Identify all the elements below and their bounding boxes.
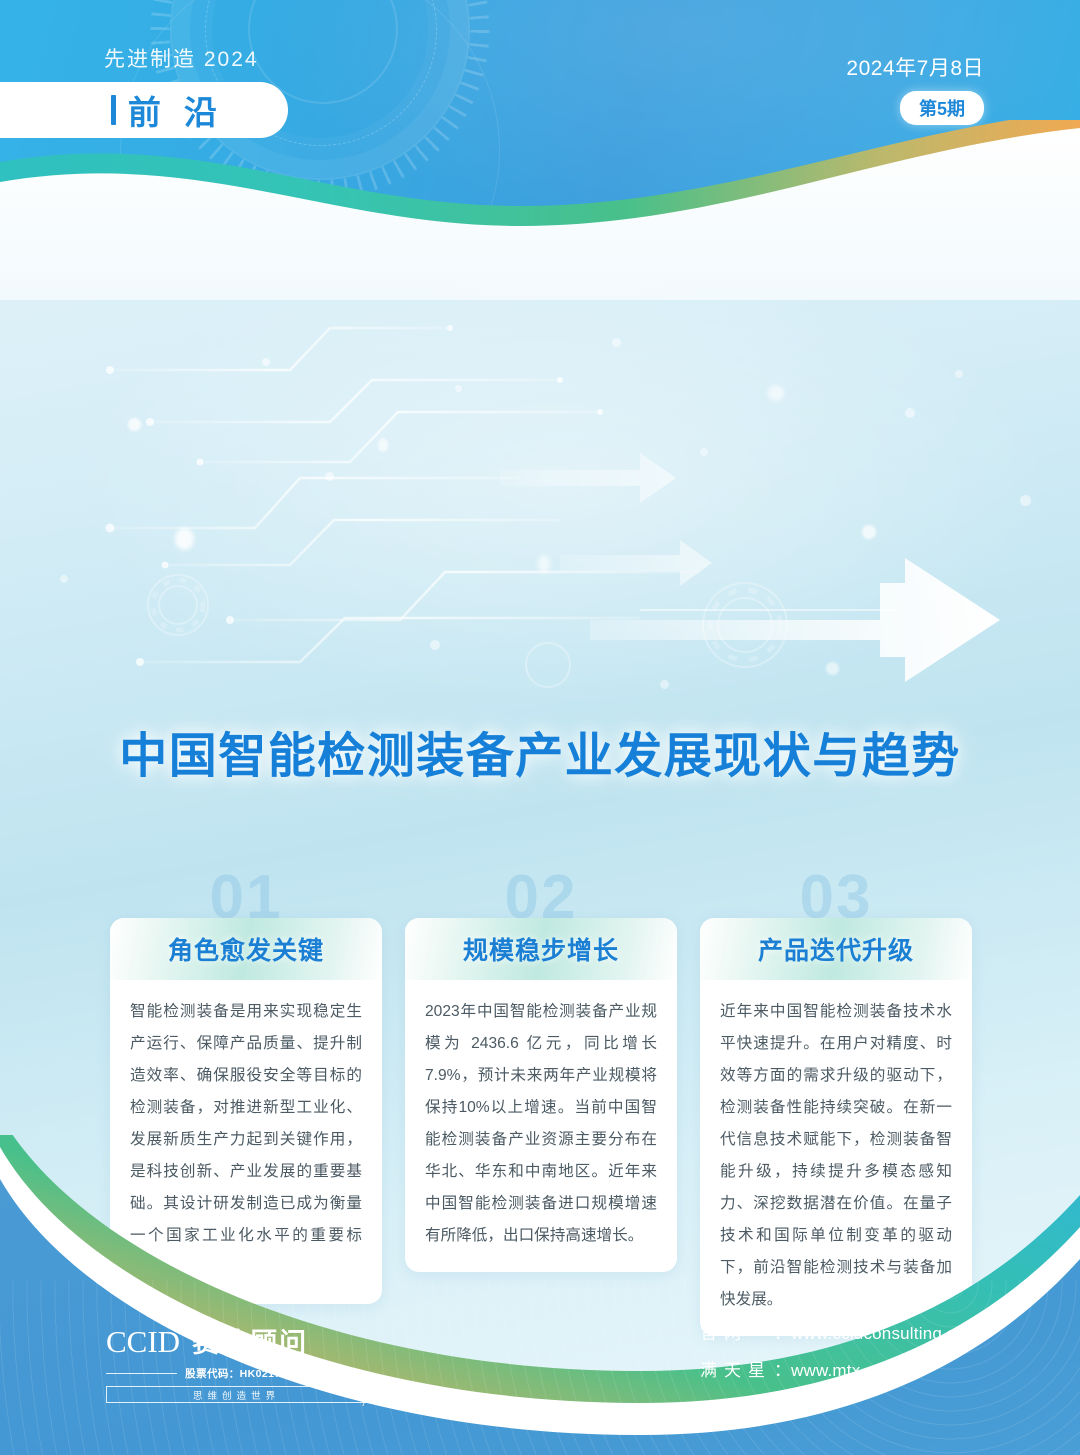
brand-logo: CCID 赛迪顾问 股票代码：HK02176 思维创造世界 [106,1321,366,1403]
hero-graphic [0,210,1080,730]
bokeh-particle [862,525,876,539]
slogan-banner: 思维创造世界 [106,1386,366,1403]
logo-latin-text: CCID [106,1324,180,1360]
bokeh-particle [430,640,440,650]
rule-left [106,1373,177,1374]
hero-glow [0,210,1080,730]
card-heading: 角色愈发关键 [168,931,324,967]
card-header: 产品迭代升级 [700,918,972,980]
bokeh-particle [325,472,334,481]
bokeh-particle [378,438,388,452]
contact-row-website: 官网 ： www.ccidconsulting.com [700,1319,980,1344]
card-header: 规模稳步增长 [405,918,677,980]
bokeh-particle [60,575,68,583]
stock-code-label: 股票代码：HK02176 [177,1366,295,1381]
contact-label: 官网 [700,1319,774,1344]
contact-value[interactable]: www.mtx.cn [791,1361,884,1381]
publish-date: 2024年7月8日 [846,52,984,82]
bokeh-particle [262,358,270,366]
bokeh-particle [768,385,784,401]
logo-chinese-text: 赛迪顾问 [192,1321,308,1360]
bokeh-particle [538,555,550,573]
page-title: 中国智能检测装备产业发展现状与趋势 [0,716,1080,786]
contact-row-mtx: 满天星 ： www.mtx.cn [700,1356,980,1381]
contact-value[interactable]: www.ccidconsulting.com [791,1324,980,1344]
card-header: 角色愈发关键 [110,918,382,980]
slogan-label: 思维创造世界 [193,1388,280,1402]
contact-colon: ： [774,1319,791,1344]
bokeh-particle [660,680,669,689]
bokeh-particle [905,408,915,418]
bokeh-particle [612,338,621,347]
series-label: 先进制造 2024 [104,43,259,73]
bokeh-particle [128,418,141,431]
bokeh-particle [955,370,963,378]
contact-label: 满天星 [700,1356,774,1381]
bokeh-particle [826,662,839,675]
rule-right [295,1373,366,1374]
card-heading: 产品迭代升级 [758,931,914,967]
contact-colon: ： [774,1356,791,1381]
footer: CCID 赛迪顾问 股票代码：HK02176 思维创造世界 官网 ： www.c… [0,1280,1080,1455]
newsletter-poster: 先进制造 2024 前 沿 2024年7月8日 第5期 总第5期 [0,0,1080,1455]
bokeh-particle [175,528,194,550]
stock-code-row: 股票代码：HK02176 [106,1366,366,1381]
card-heading: 规模稳步增长 [463,931,619,967]
bokeh-particle [1020,495,1031,506]
contact-info: 官网 ： www.ccidconsulting.com 满天星 ： www.mt… [700,1319,980,1393]
bokeh-particle [455,385,462,392]
bokeh-particle [700,448,708,456]
